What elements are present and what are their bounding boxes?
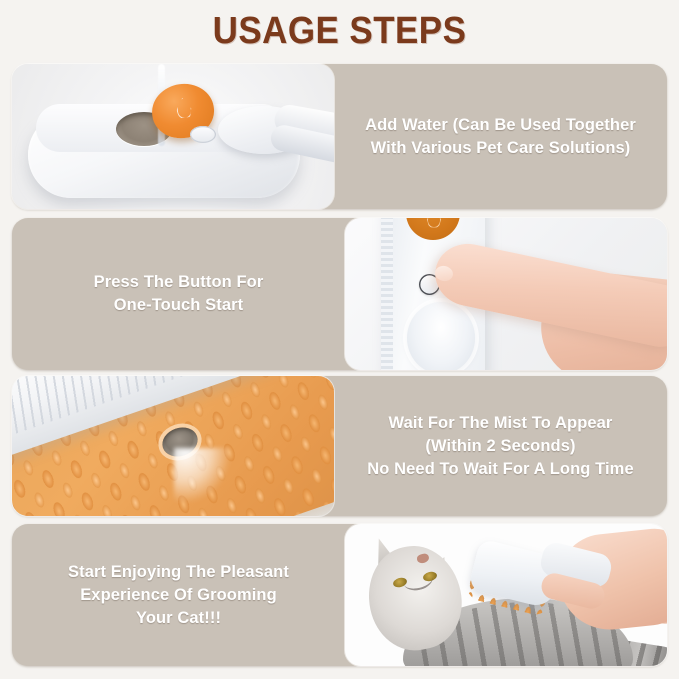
step-4-caption-line-2: Experience Of Grooming — [80, 584, 277, 607]
step-3-caption-line-1: Wait For The Mist To Appear — [389, 412, 613, 435]
mist-cloud — [174, 448, 230, 502]
step-4-caption-line-1: Start Enjoying The Pleasant — [68, 561, 289, 584]
brush-head-mist-illustration — [12, 376, 334, 516]
step-3-caption-line-2: (Within 2 Seconds) — [425, 435, 575, 458]
step-1-caption-line-2: With Various Pet Care Solutions) — [371, 137, 631, 160]
step-4-caption: Start Enjoying The Pleasant Experience O… — [12, 524, 345, 666]
step-1-caption: Add Water (Can Be Used Together With Var… — [334, 64, 667, 209]
step-row-1: Add Water (Can Be Used Together With Var… — [12, 64, 667, 209]
press-button-illustration — [345, 218, 667, 370]
device-fill-water-illustration — [12, 64, 334, 209]
step-row-2: Press The Button For One-Touch Start — [12, 218, 667, 370]
device-ribbed-edge — [381, 218, 393, 370]
step-4-caption-line-3: Your Cat!!! — [136, 607, 221, 630]
step-2-caption-line-2: One-Touch Start — [114, 294, 244, 317]
step-row-4: Start Enjoying The Pleasant Experience O… — [12, 524, 667, 666]
step-4-photo — [345, 524, 667, 666]
step-2-caption-line-1: Press The Button For — [94, 271, 264, 294]
step-2-caption: Press The Button For One-Touch Start — [12, 218, 345, 370]
power-button — [190, 126, 216, 143]
step-3-photo — [12, 376, 334, 516]
step-3-caption-line-3: No Need To Wait For A Long Time — [367, 458, 633, 481]
step-row-3: Wait For The Mist To Appear (Within 2 Se… — [12, 376, 667, 516]
device-oval-panel — [407, 302, 475, 370]
step-1-caption-line-1: Add Water (Can Be Used Together — [365, 114, 636, 137]
step-2-photo — [345, 218, 667, 370]
step-3-caption: Wait For The Mist To Appear (Within 2 Se… — [334, 376, 667, 516]
cat-grooming-illustration — [345, 524, 667, 666]
page-title: USAGE STEPS — [27, 8, 652, 54]
step-1-photo — [12, 64, 334, 209]
